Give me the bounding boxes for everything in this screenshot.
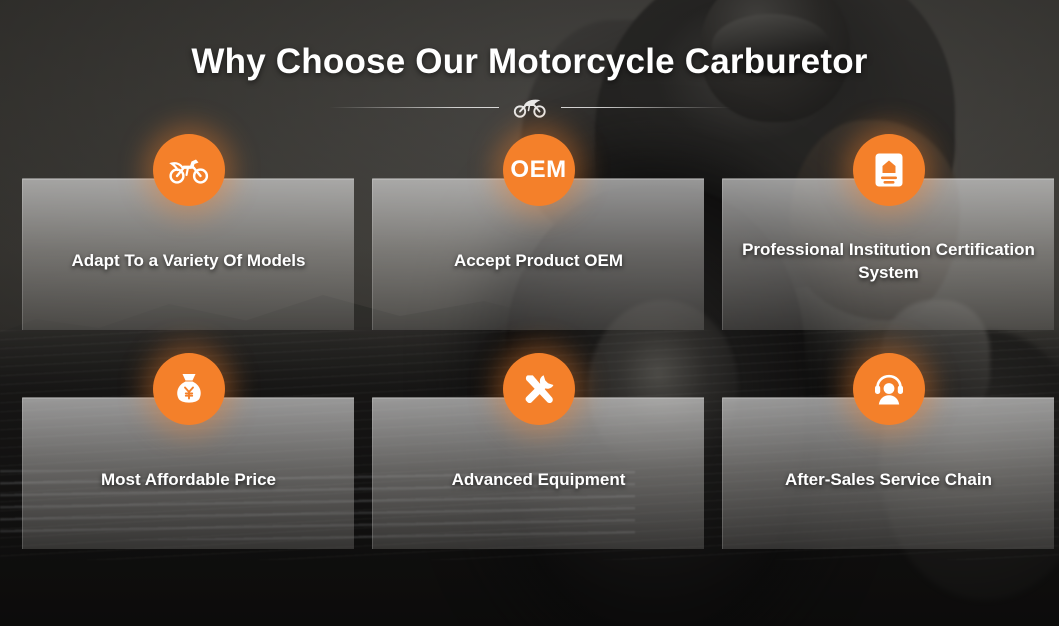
feature-card-product-oem[interactable]: OEM Accept Product OEM xyxy=(372,178,704,330)
feature-card-advanced-equipment[interactable]: Advanced Equipment xyxy=(372,397,704,549)
customer-service-headset-icon xyxy=(853,353,925,425)
tools-wrench-screwdriver-icon xyxy=(503,353,575,425)
feature-card-title: Advanced Equipment xyxy=(452,469,626,491)
feature-card-after-sales-service[interactable]: After-Sales Service Chain xyxy=(722,397,1054,549)
feature-card-title: After-Sales Service Chain xyxy=(785,469,992,491)
dirt-bike-icon xyxy=(153,134,225,206)
feature-card-title: Adapt To a Variety Of Models xyxy=(72,250,306,272)
motorcycle-icon xyxy=(513,96,547,118)
feature-card-adapt-models[interactable]: Adapt To a Variety Of Models xyxy=(22,178,354,330)
divider-rule-left xyxy=(329,107,499,108)
money-bag-icon xyxy=(153,353,225,425)
certificate-icon xyxy=(853,134,925,206)
feature-card-title: Professional Institution Certification S… xyxy=(741,239,1036,284)
feature-card-grid: Adapt To a Variety Of Models OEM Accept … xyxy=(22,178,1037,549)
feature-card-certification[interactable]: Professional Institution Certification S… xyxy=(722,178,1054,330)
title-divider xyxy=(0,96,1059,118)
feature-card-title: Most Affordable Price xyxy=(101,469,276,491)
page-title: Why Choose Our Motorcycle Carburetor xyxy=(0,42,1059,82)
oem-text-icon: OEM xyxy=(503,134,575,206)
oem-label: OEM xyxy=(510,158,566,182)
feature-card-affordable-price[interactable]: Most Affordable Price xyxy=(22,397,354,549)
feature-card-title: Accept Product OEM xyxy=(454,250,623,272)
divider-rule-right xyxy=(561,107,731,108)
